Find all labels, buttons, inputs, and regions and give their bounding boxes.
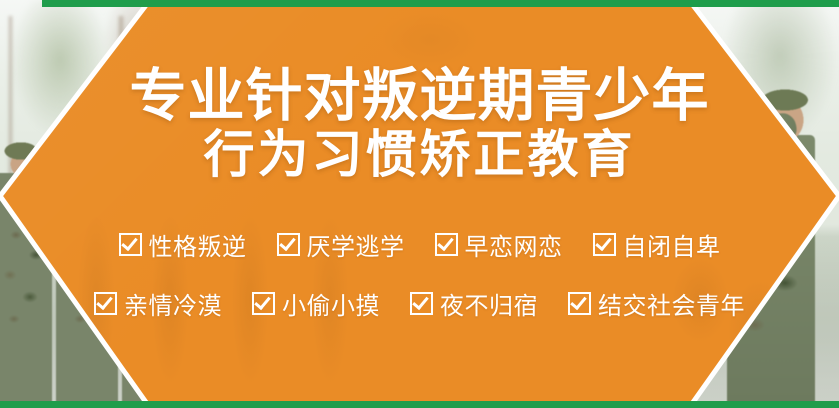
issue-tag[interactable]: 结交社会青年 — [568, 286, 745, 321]
headline-line-1: 专业针对叛逆期青少年 — [130, 66, 710, 126]
issue-tag-label: 厌学逃学 — [307, 227, 405, 262]
checkbox-checked-icon — [94, 292, 117, 315]
checkbox-checked-icon — [277, 233, 300, 256]
issue-tag-label: 亲情冷漠 — [124, 286, 222, 321]
issue-tag[interactable]: 小偷小摸 — [252, 286, 380, 321]
issue-tag-label: 早恋网恋 — [465, 227, 563, 262]
checkbox-checked-icon — [252, 292, 275, 315]
issue-tag[interactable]: 厌学逃学 — [277, 227, 405, 262]
checkbox-checked-icon — [435, 233, 458, 256]
checkbox-checked-icon — [410, 292, 433, 315]
issue-tag[interactable]: 早恋网恋 — [435, 227, 563, 262]
issue-tag-list: 性格叛逆 厌学逃学 早恋网恋 自闭自卑 亲情冷漠 — [94, 227, 745, 321]
issue-tag-row: 性格叛逆 厌学逃学 早恋网恋 自闭自卑 — [119, 227, 721, 262]
checkbox-checked-icon — [568, 292, 591, 315]
issue-tag[interactable]: 亲情冷漠 — [94, 286, 222, 321]
headline-line-2: 行为习惯矫正教育 — [203, 129, 635, 183]
issue-tag-label: 性格叛逆 — [149, 227, 247, 262]
issue-tag-label: 自闭自卑 — [623, 227, 721, 262]
issue-tag[interactable]: 性格叛逆 — [119, 227, 247, 262]
issue-tag-row: 亲情冷漠 小偷小摸 夜不归宿 结交社会青年 — [94, 286, 745, 321]
issue-tag-label: 结交社会青年 — [598, 286, 745, 321]
issue-tag[interactable]: 夜不归宿 — [410, 286, 538, 321]
issue-tag-label: 夜不归宿 — [440, 286, 538, 321]
banner-content: 专业针对叛逆期青少年 行为习惯矫正教育 性格叛逆 厌学逃学 早恋网恋 — [0, 0, 839, 408]
issue-tag-label: 小偷小摸 — [282, 286, 380, 321]
checkbox-checked-icon — [593, 233, 616, 256]
promo-banner: 专业针对叛逆期青少年 行为习惯矫正教育 性格叛逆 厌学逃学 早恋网恋 — [0, 0, 839, 408]
checkbox-checked-icon — [119, 233, 142, 256]
issue-tag[interactable]: 自闭自卑 — [593, 227, 721, 262]
